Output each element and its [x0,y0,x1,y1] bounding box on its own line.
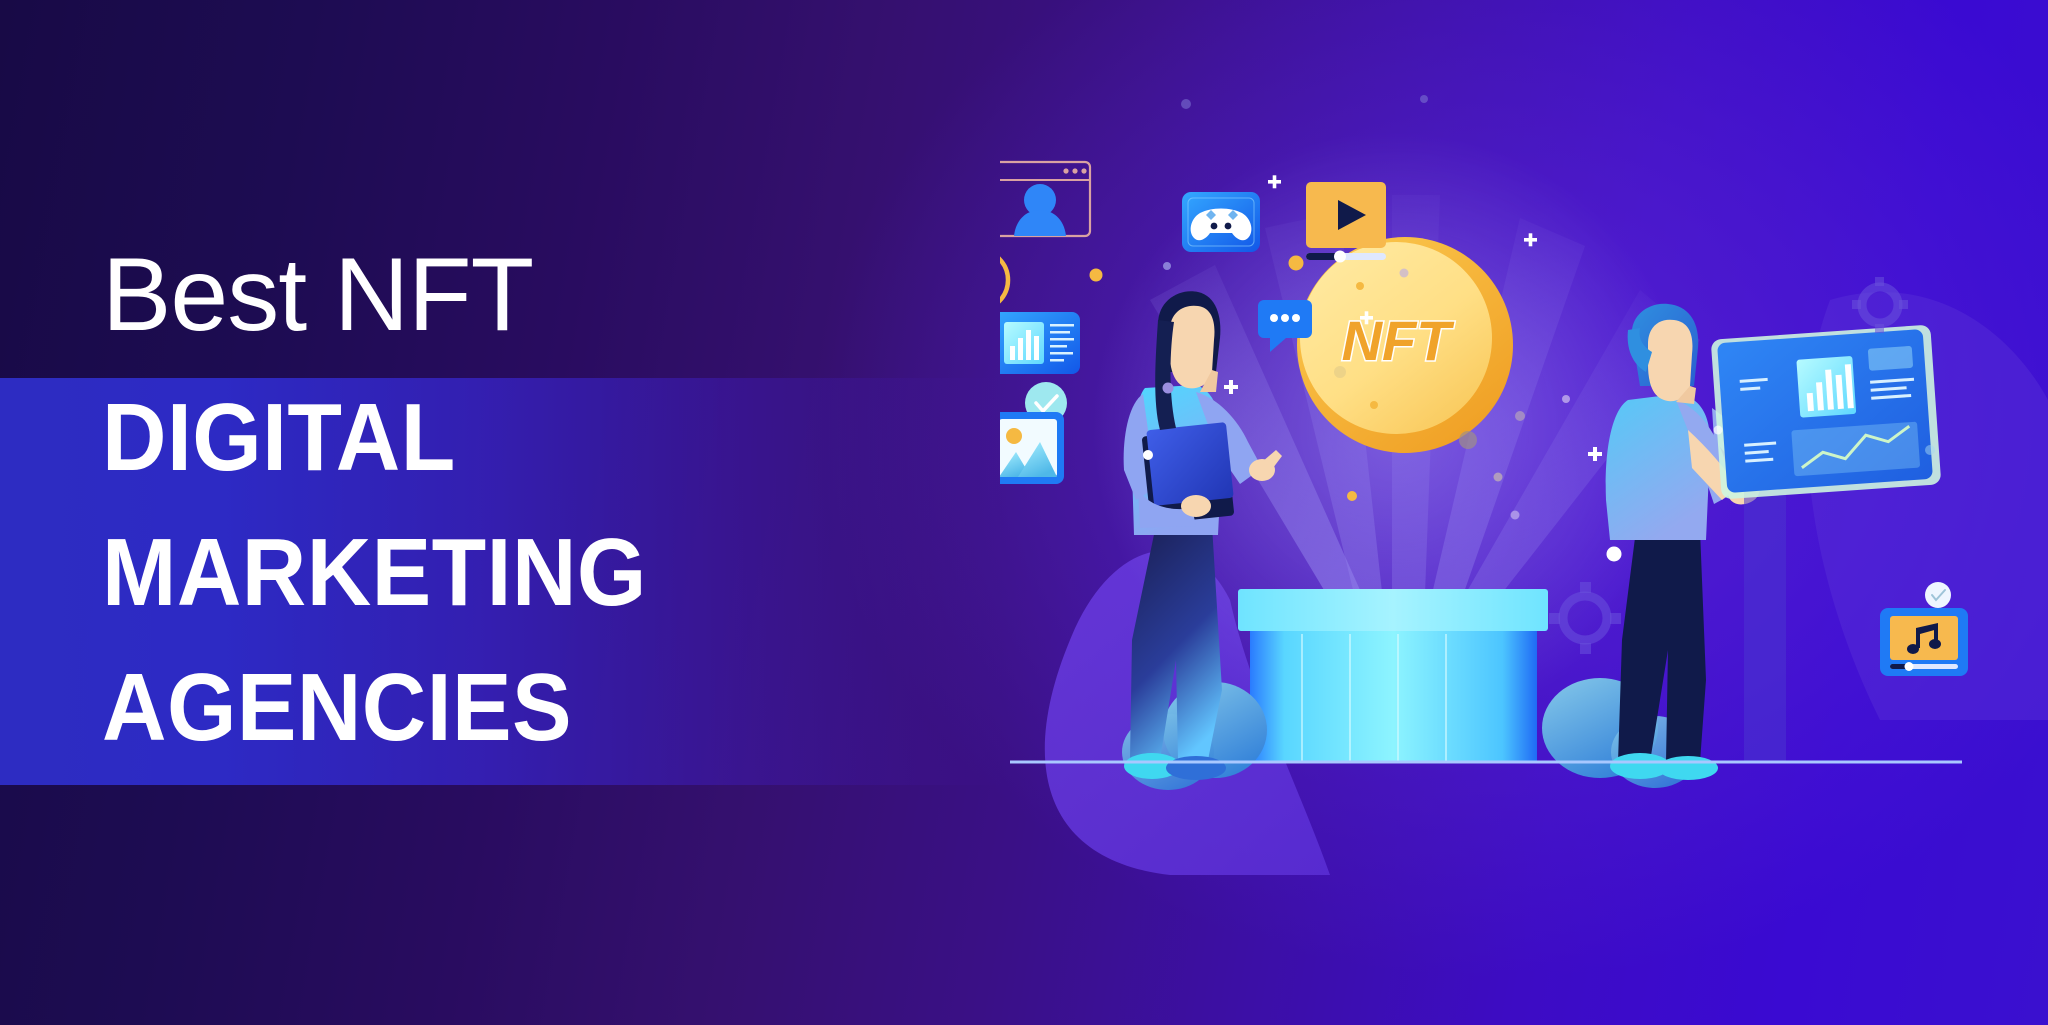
analytics-card[interactable] [1000,312,1080,374]
headline-line-agencies: AGENCIES [102,660,572,756]
small-check-badge [1925,582,1951,608]
headline-group: Best NFT DIGITAL MARKETING AGENCIES [0,0,1000,1025]
headline-line-marketing: MARKETING [102,525,647,621]
dollar-coin: $ [1000,250,1008,310]
browser-card[interactable] [1000,162,1090,236]
headline-line-best-nft: Best NFT [102,243,533,347]
coin-label: NFT [1342,309,1456,372]
image-card[interactable] [1000,412,1064,484]
nft-illustration: NFT [1000,0,2048,1025]
nft-pedestal [1238,589,1548,762]
headline-line-digital: DIGITAL [102,390,456,486]
chat-dots-icon [1270,314,1300,322]
music-card[interactable] [1880,608,1968,676]
nft-marketing-banner: NFT [0,0,2048,1025]
sun-icon [1006,428,1022,444]
window-dots-icon [1063,168,1086,173]
game-card[interactable] [1182,192,1260,252]
